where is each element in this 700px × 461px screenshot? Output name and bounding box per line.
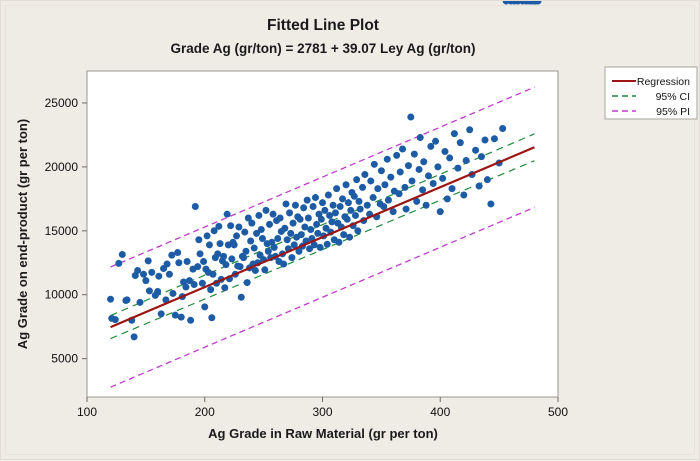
scatter-point bbox=[451, 130, 458, 137]
scatter-point bbox=[307, 226, 314, 233]
scatter-point bbox=[343, 181, 350, 188]
scatter-point bbox=[419, 186, 426, 193]
scatter-point bbox=[231, 241, 238, 248]
scatter-point bbox=[411, 151, 418, 158]
scatter-point bbox=[266, 221, 273, 228]
scatter-point bbox=[145, 257, 152, 264]
scatter-point bbox=[344, 216, 351, 223]
scatter-point bbox=[330, 202, 337, 209]
y-tick-label: 10000 bbox=[45, 288, 79, 302]
scatter-point bbox=[288, 254, 295, 261]
y-tick-label: 25000 bbox=[45, 96, 79, 110]
scatter-point bbox=[324, 241, 331, 248]
scatter-point bbox=[463, 157, 470, 164]
legend-label-2: 95% CI bbox=[656, 91, 690, 103]
x-tick-label: 400 bbox=[430, 405, 450, 419]
scatter-point bbox=[283, 200, 290, 207]
scatter-point bbox=[251, 245, 258, 252]
scatter-point bbox=[318, 216, 325, 223]
scatter-point bbox=[319, 199, 326, 206]
scatter-point bbox=[354, 227, 361, 234]
scatter-point bbox=[405, 162, 412, 169]
scatter-point bbox=[393, 152, 400, 159]
scatter-point bbox=[222, 261, 229, 268]
scatter-point bbox=[247, 238, 254, 245]
scatter-point bbox=[207, 286, 214, 293]
scatter-point bbox=[407, 114, 414, 121]
scatter-point bbox=[466, 126, 473, 133]
y-tick-label: 20000 bbox=[45, 160, 79, 174]
scatter-point bbox=[136, 299, 143, 306]
scatter-point bbox=[262, 207, 269, 214]
legend-label-1: Regression bbox=[637, 76, 690, 88]
scatter-point bbox=[356, 198, 363, 205]
scatter-point bbox=[423, 202, 430, 209]
scatter-point bbox=[164, 261, 171, 268]
scatter-point bbox=[286, 209, 293, 216]
y-tick-label: 5000 bbox=[51, 352, 78, 366]
scatter-point bbox=[425, 172, 432, 179]
scatter-point bbox=[148, 269, 155, 276]
scatter-point bbox=[215, 223, 222, 230]
x-tick-label: 300 bbox=[312, 405, 332, 419]
scatter-point bbox=[217, 240, 224, 247]
scatter-point bbox=[446, 154, 453, 161]
scatter-point bbox=[361, 171, 368, 178]
scatter-point bbox=[240, 254, 247, 261]
scatter-point bbox=[241, 229, 248, 236]
scatter-point bbox=[312, 194, 319, 201]
scatter-point bbox=[200, 258, 207, 265]
scatter-point bbox=[112, 316, 119, 323]
scatter-point bbox=[444, 195, 451, 202]
scatter-point bbox=[403, 206, 410, 213]
scatter-point bbox=[233, 232, 240, 239]
scatter-point bbox=[224, 211, 231, 218]
scatter-point bbox=[258, 226, 265, 233]
scatter-point bbox=[408, 177, 415, 184]
scatter-point bbox=[472, 147, 479, 154]
scatter-point bbox=[484, 176, 491, 183]
scatter-point bbox=[434, 163, 441, 170]
scatter-point bbox=[208, 314, 215, 321]
scatter-point bbox=[416, 166, 423, 173]
scatter-point bbox=[339, 195, 346, 202]
scatter-point bbox=[420, 158, 427, 165]
scatter-point bbox=[325, 192, 332, 199]
x-tick-label: 500 bbox=[548, 405, 568, 419]
scatter-point bbox=[178, 314, 185, 321]
chart-figure: Fitted Line PlotGrade Ag (gr/ton) = 2781… bbox=[0, 0, 700, 460]
scatter-point bbox=[280, 261, 287, 268]
scatter-point bbox=[487, 200, 494, 207]
scatter-point bbox=[238, 294, 245, 301]
scatter-point bbox=[182, 284, 189, 291]
scatter-point bbox=[142, 277, 149, 284]
scatter-point bbox=[499, 125, 506, 132]
scatter-point bbox=[131, 333, 138, 340]
scatter-point bbox=[399, 145, 406, 152]
scatter-point bbox=[255, 212, 262, 219]
scatter-point bbox=[401, 184, 408, 191]
scatter-point bbox=[396, 190, 403, 197]
scatter-point bbox=[417, 134, 424, 141]
scatter-point bbox=[384, 156, 391, 163]
scatter-point bbox=[335, 239, 342, 246]
scatter-point bbox=[107, 296, 114, 303]
scatter-point bbox=[387, 174, 394, 181]
scatter-point bbox=[204, 232, 211, 239]
scatter-point bbox=[206, 241, 213, 248]
x-tick-label: 100 bbox=[77, 405, 97, 419]
scatter-point bbox=[317, 244, 324, 251]
x-tick-label: 200 bbox=[195, 405, 215, 419]
x-axis-label: Ag Grade in Raw Material (gr per ton) bbox=[208, 426, 438, 441]
scatter-point bbox=[119, 251, 126, 258]
scatter-point bbox=[287, 230, 294, 237]
fitted-line-plot: Fitted Line PlotGrade Ag (gr/ton) = 2781… bbox=[1, 1, 700, 461]
scatter-point bbox=[298, 231, 305, 238]
scatter-point bbox=[191, 281, 198, 288]
scatter-point bbox=[192, 203, 199, 210]
scatter-point bbox=[374, 185, 381, 192]
scatter-point bbox=[270, 211, 277, 218]
scatter-point bbox=[437, 208, 444, 215]
scatter-point bbox=[199, 280, 206, 287]
scatter-point bbox=[290, 220, 297, 227]
legend-label-3: 95% PI bbox=[656, 106, 690, 118]
y-tick-label: 15000 bbox=[45, 224, 79, 238]
scatter-point bbox=[357, 206, 364, 213]
scatter-point bbox=[284, 236, 291, 243]
scatter-point bbox=[397, 169, 404, 176]
scatter-point bbox=[252, 267, 259, 274]
scatter-point bbox=[297, 216, 304, 223]
scatter-point bbox=[175, 259, 182, 266]
scatter-point bbox=[235, 223, 242, 230]
scatter-point bbox=[482, 137, 489, 144]
scatter-point bbox=[228, 255, 235, 262]
scatter-point bbox=[370, 194, 377, 201]
scatter-point bbox=[220, 253, 227, 260]
scatter-point bbox=[460, 192, 467, 199]
scatter-point bbox=[197, 250, 204, 257]
scatter-point bbox=[478, 153, 485, 160]
scatter-point bbox=[439, 175, 446, 182]
scatter-point bbox=[353, 176, 360, 183]
scatter-point bbox=[430, 180, 437, 187]
scatter-point bbox=[221, 284, 228, 291]
scatter-point bbox=[300, 204, 307, 211]
chart-subtitle: Grade Ag (gr/ton) = 2781 + 39.07 Ley Ag … bbox=[170, 41, 475, 56]
scatter-point bbox=[367, 177, 374, 184]
scatter-point bbox=[381, 181, 388, 188]
scatter-point bbox=[277, 215, 284, 222]
scatter-point bbox=[454, 165, 461, 172]
scatter-point bbox=[371, 161, 378, 168]
scatter-point bbox=[449, 185, 456, 192]
scatter-point bbox=[158, 310, 165, 317]
scatter-point bbox=[146, 287, 153, 294]
scatter-point bbox=[281, 225, 288, 232]
scatter-point bbox=[227, 222, 234, 229]
scatter-point bbox=[209, 271, 216, 278]
scatter-point bbox=[352, 212, 359, 219]
scatter-point bbox=[385, 197, 392, 204]
scatter-point bbox=[441, 148, 448, 155]
scatter-point bbox=[187, 317, 194, 324]
scatter-point bbox=[364, 202, 371, 209]
scatter-point bbox=[476, 183, 483, 190]
scatter-point bbox=[201, 303, 208, 310]
y-axis-label: Ag Grade on end-product (gr per ton) bbox=[15, 119, 30, 349]
scatter-point bbox=[115, 260, 122, 267]
scatter-point bbox=[155, 273, 162, 280]
scatter-point bbox=[169, 290, 176, 297]
scatter-point bbox=[134, 267, 141, 274]
scatter-point bbox=[333, 185, 340, 192]
scatter-point bbox=[237, 263, 244, 270]
scatter-point bbox=[292, 202, 299, 209]
chart-title: Fitted Line Plot bbox=[267, 17, 379, 34]
scatter-point bbox=[194, 263, 201, 270]
scatter-point bbox=[248, 220, 255, 227]
scatter-point bbox=[346, 234, 353, 241]
scatter-point bbox=[359, 184, 366, 191]
scatter-point bbox=[305, 215, 312, 222]
scatter-point bbox=[304, 197, 311, 204]
scatter-point bbox=[140, 271, 147, 278]
scatter-point bbox=[432, 138, 439, 145]
scatter-point bbox=[271, 244, 278, 251]
scatter-point bbox=[174, 249, 181, 256]
scatter-point bbox=[184, 258, 191, 265]
scatter-point bbox=[380, 203, 387, 210]
scatter-point bbox=[265, 248, 272, 255]
scatter-point bbox=[345, 199, 352, 206]
scatter-point bbox=[457, 139, 464, 146]
scatter-point bbox=[242, 248, 249, 255]
scatter-point bbox=[337, 203, 344, 210]
scatter-point bbox=[274, 235, 281, 242]
scatter-point bbox=[166, 271, 173, 278]
scatter-point bbox=[195, 236, 202, 243]
scatter-point bbox=[328, 218, 335, 225]
scatter-point bbox=[244, 279, 251, 286]
scatter-point bbox=[261, 266, 268, 273]
scatter-point bbox=[491, 135, 498, 142]
scatter-point bbox=[124, 296, 131, 303]
scatter-point bbox=[332, 209, 339, 216]
scatter-point bbox=[154, 288, 161, 295]
scatter-point bbox=[378, 167, 385, 174]
scatter-point bbox=[310, 203, 317, 210]
